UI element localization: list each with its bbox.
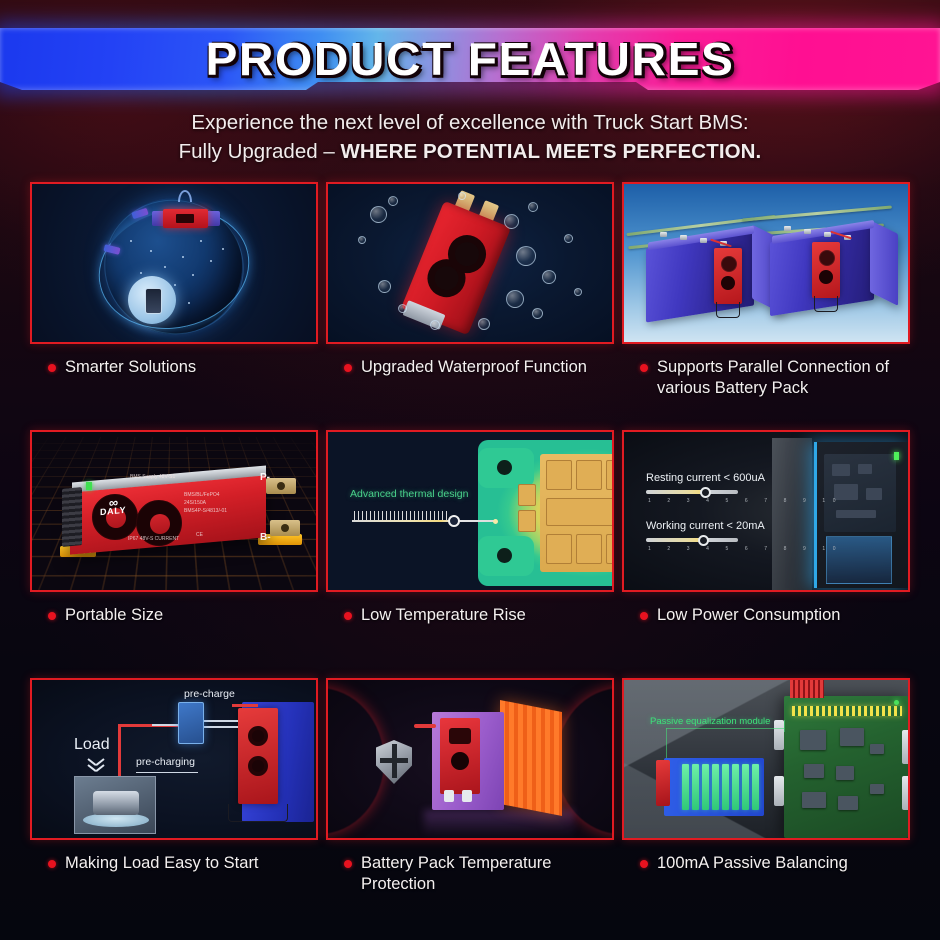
feature-card-100ma-passive-balancing[interactable]: Passive equalization module 100mA Passiv… <box>622 678 910 874</box>
protection-arc-left <box>326 688 384 834</box>
terminal-label-p: P- <box>260 472 270 483</box>
pcb-board <box>784 696 908 838</box>
parallel-battery-packs-illustration <box>624 184 908 342</box>
feature-caption: Making Load Easy to Start <box>30 853 318 874</box>
resting-slider-scale: 1 2 3 4 5 6 7 8 9 10 <box>648 498 843 504</box>
precharge-label: pre-charge <box>184 688 235 700</box>
feature-caption-text: Smarter Solutions <box>65 357 196 378</box>
feature-caption: Smarter Solutions <box>30 357 318 378</box>
bms-unit-icon <box>812 242 840 298</box>
bms-unit-icon <box>656 760 670 806</box>
feature-card-portable-size[interactable]: ∞ DALY BMS/BL/FePO4 24S/150A BMS4P-S/481… <box>30 430 318 626</box>
bullet-icon <box>48 612 56 620</box>
wifi-icon <box>178 190 192 202</box>
feature-thumbnail: Passive equalization module <box>622 678 910 840</box>
bullet-icon <box>344 612 352 620</box>
feature-thumbnail: Resting current < 600uA 1 2 3 4 5 6 7 8 … <box>622 430 910 592</box>
feature-thumbnail <box>30 182 318 344</box>
feature-caption: Supports Parallel Connection of various … <box>622 357 910 399</box>
feature-caption: Upgraded Waterproof Function <box>326 357 614 378</box>
shield-battery-illustration <box>328 680 612 838</box>
feature-grid: Smarter Solutions <box>30 182 910 910</box>
precharging-label: pre-charging <box>136 756 195 768</box>
product-features-infographic: PRODUCT FEATURES Experience the next lev… <box>0 0 940 940</box>
resting-slider-knob[interactable] <box>700 487 711 498</box>
feature-thumbnail <box>326 182 614 344</box>
subtitle-bold: WHERE POTENTIAL MEETS PERFECTION. <box>340 140 761 163</box>
feature-thumbnail <box>326 678 614 840</box>
ce-mark: CE <box>196 532 203 538</box>
chevron-down-icon <box>88 764 104 773</box>
load-label: Load <box>74 736 110 754</box>
bms-node-icon <box>163 209 208 228</box>
bullet-icon <box>344 364 352 372</box>
bullet-icon <box>640 364 648 372</box>
load-motor-icon <box>74 776 156 834</box>
precharge-diagram-illustration: Load pre-charge pre-charging <box>32 680 316 838</box>
bullet-icon <box>640 612 648 620</box>
feature-card-smarter-solutions[interactable]: Smarter Solutions <box>30 182 318 378</box>
passive-equalization-illustration: Passive equalization module <box>624 680 908 838</box>
thermal-design-note: Advanced thermal design <box>350 488 469 500</box>
feature-caption: Low Temperature Rise <box>326 605 614 626</box>
feature-thumbnail: ∞ DALY BMS/BL/FePO4 24S/150A BMS4P-S/481… <box>30 430 318 592</box>
feature-thumbnail <box>622 182 910 344</box>
feature-caption-text: Low Temperature Rise <box>361 605 526 626</box>
feature-caption-text: Portable Size <box>65 605 163 626</box>
feature-caption: Portable Size <box>30 605 318 626</box>
feature-caption-text: Low Power Consumption <box>657 605 840 626</box>
feature-caption: 100mA Passive Balancing <box>622 853 910 874</box>
spec-line-1: BMS/BL/FePO4 <box>184 492 220 498</box>
mobile-app-icon <box>128 276 176 324</box>
resting-current-label: Resting current < 600uA <box>646 472 765 484</box>
terminal-label-b: B- <box>260 532 271 543</box>
feature-caption-text: Upgraded Waterproof Function <box>361 357 587 378</box>
subtitle-normal: Fully Upgraded – <box>179 140 341 163</box>
feature-caption-text: 100mA Passive Balancing <box>657 853 848 874</box>
slider-knob[interactable] <box>448 515 460 527</box>
bms-unit-icon <box>238 708 278 804</box>
subtitle-line-2: Fully Upgraded – WHERE POTENTIAL MEETS P… <box>0 137 940 166</box>
feature-card-low-temperature-rise[interactable]: Advanced thermal design Low Temperature … <box>326 430 614 626</box>
feature-caption-text: Battery Pack Temperature Protection <box>361 853 614 895</box>
globe-connectivity-illustration <box>32 184 316 342</box>
feature-card-upgraded-waterproof-function[interactable]: Upgraded Waterproof Function <box>326 182 614 378</box>
bullet-icon <box>344 860 352 868</box>
feature-caption-text: Making Load Easy to Start <box>65 853 259 874</box>
daly-bms-board-illustration: ∞ DALY BMS/BL/FePO4 24S/150A BMS4P-S/481… <box>32 432 316 590</box>
bms-unit-icon <box>714 248 742 304</box>
feature-caption: Low Power Consumption <box>622 605 910 626</box>
thermal-slider[interactable] <box>352 515 468 527</box>
feature-card-supports-parallel-connection[interactable]: Supports Parallel Connection of various … <box>622 182 910 399</box>
subtitle-line-1: Experience the next level of excellence … <box>0 108 940 137</box>
status-led-icon <box>894 452 899 460</box>
passive-equalization-note: Passive equalization module <box>650 716 770 727</box>
feature-caption: Battery Pack Temperature Protection <box>326 853 614 895</box>
current-sliders-illustration: Resting current < 600uA 1 2 3 4 5 6 7 8 … <box>624 432 908 590</box>
feature-card-battery-pack-temperature-protection[interactable]: Battery Pack Temperature Protection <box>326 678 614 895</box>
bullet-icon <box>48 364 56 372</box>
thermal-heatmap-illustration: Advanced thermal design <box>328 432 612 590</box>
spec-line-3: BMS4P-S/4813/-01 <box>184 508 227 514</box>
working-current-label: Working current < 20mA <box>646 520 765 532</box>
working-slider-scale: 1 2 3 4 5 6 7 8 9 10 <box>648 546 843 552</box>
feature-thumbnail: Load pre-charge pre-charging <box>30 678 318 840</box>
daly-brand-logo: ∞ DALY <box>100 497 126 517</box>
page-title: PRODUCT FEATURES <box>0 28 940 90</box>
header-banner: PRODUCT FEATURES <box>0 28 940 90</box>
bms-unit-icon <box>440 718 480 794</box>
feature-caption-text: Supports Parallel Connection of various … <box>657 357 910 399</box>
feature-thumbnail: Advanced thermal design <box>326 430 614 592</box>
bullet-icon <box>48 860 56 868</box>
bullet-icon <box>640 860 648 868</box>
feature-card-low-power-consumption[interactable]: Resting current < 600uA 1 2 3 4 5 6 7 8 … <box>622 430 910 626</box>
bms-underwater-illustration <box>328 184 612 342</box>
precharge-module-icon <box>178 702 204 744</box>
subtitle: Experience the next level of excellence … <box>0 108 940 166</box>
spec-line-2: 24S/150A <box>184 500 206 506</box>
feature-card-making-load-easy-to-start[interactable]: Load pre-charge pre-charging Making Load… <box>30 678 318 874</box>
working-slider-knob[interactable] <box>698 535 709 546</box>
